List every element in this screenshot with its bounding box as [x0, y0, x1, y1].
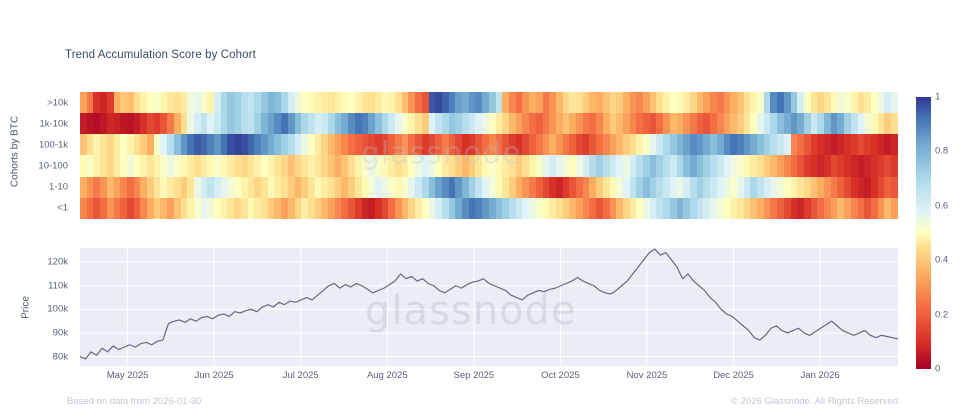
heatmap-cell	[469, 177, 476, 198]
heatmap-cell	[824, 155, 831, 176]
heatmap-cell	[395, 92, 402, 113]
heatmap-cell	[308, 198, 315, 219]
heatmap-cell	[663, 155, 670, 176]
heatmap-cell	[134, 92, 141, 113]
price-line-svg	[80, 248, 898, 366]
heatmap-cell	[650, 92, 657, 113]
heatmap-cell	[375, 134, 382, 155]
heatmap-cell	[160, 113, 167, 134]
heatmap-cell	[375, 177, 382, 198]
heatmap-cell	[563, 155, 570, 176]
heatmap-cell	[656, 92, 663, 113]
heatmap-cell	[415, 155, 422, 176]
heatmap-cell	[388, 177, 395, 198]
heatmap-cell	[797, 155, 804, 176]
heatmap-cell	[415, 134, 422, 155]
heatmap-cell	[784, 177, 791, 198]
heatmap-cell	[93, 198, 100, 219]
heatmap-cell	[744, 177, 751, 198]
heatmap-cell	[261, 134, 268, 155]
heatmap-cell	[261, 155, 268, 176]
heatmap-cell	[529, 92, 536, 113]
heatmap-cell	[811, 177, 818, 198]
heatmap-cell	[442, 155, 449, 176]
heatmap-cell	[703, 198, 710, 219]
heatmap-cell	[811, 134, 818, 155]
heatmap-cell	[181, 134, 188, 155]
heatmap-cell	[140, 134, 147, 155]
heatmap-cell	[878, 177, 885, 198]
heatmap-cell	[891, 113, 898, 134]
heatmap-cell	[402, 134, 409, 155]
heatmap-cell	[154, 113, 161, 134]
heatmap-cell	[80, 134, 87, 155]
heatmap-cell	[737, 113, 744, 134]
heatmap-cell	[844, 155, 851, 176]
heatmap-cell	[703, 113, 710, 134]
heatmap-cell	[596, 155, 603, 176]
heatmap-cell	[824, 177, 831, 198]
heatmap-cell	[764, 92, 771, 113]
heatmap-cell	[543, 134, 550, 155]
heatmap-cell	[274, 155, 281, 176]
heatmap-cell	[335, 134, 342, 155]
heatmap-cell	[201, 92, 208, 113]
heatmap-cell	[442, 134, 449, 155]
heatmap-cell	[134, 113, 141, 134]
heatmap-cell	[80, 155, 87, 176]
heatmap-cell	[858, 92, 865, 113]
heatmap-cell	[449, 134, 456, 155]
heatmap-cell	[569, 177, 576, 198]
heatmap-cell	[174, 92, 181, 113]
heatmap-cell	[382, 134, 389, 155]
heatmap-cell	[174, 177, 181, 198]
heatmap-cell	[120, 134, 127, 155]
heatmap-cell	[616, 198, 623, 219]
heatmap-cell	[100, 134, 107, 155]
heatmap-cell	[817, 177, 824, 198]
heatmap-cell	[864, 155, 871, 176]
heatmap-cell	[576, 92, 583, 113]
heatmap-cell	[395, 198, 402, 219]
heatmap-cell	[496, 155, 503, 176]
heatmap-cell	[878, 134, 885, 155]
heatmap-cell	[884, 155, 891, 176]
heatmap-cell	[455, 113, 462, 134]
heatmap-cell	[462, 92, 469, 113]
heatmap-cell	[670, 155, 677, 176]
heatmap-cell	[248, 155, 255, 176]
heatmap-cell	[281, 113, 288, 134]
heatmap-cell	[295, 134, 302, 155]
heatmap-cell	[268, 134, 275, 155]
heatmap-cell	[207, 92, 214, 113]
heatmap-cell	[797, 198, 804, 219]
heatmap-cell	[797, 177, 804, 198]
heatmap-cell	[221, 134, 228, 155]
heatmap-cell	[610, 113, 617, 134]
heatmap-cell	[422, 155, 429, 176]
price-plot[interactable]	[80, 248, 898, 366]
heatmap-cell	[496, 198, 503, 219]
heatmap-cell	[791, 198, 798, 219]
heatmap-cell	[589, 198, 596, 219]
heatmap-cell	[603, 113, 610, 134]
heatmap-cell	[429, 92, 436, 113]
heatmap-cell	[127, 113, 134, 134]
heatmap-cell	[268, 92, 275, 113]
heatmap-cell	[147, 198, 154, 219]
heatmap-cell	[750, 113, 757, 134]
heatmap-plot[interactable]	[80, 92, 898, 219]
heatmap-cell	[677, 155, 684, 176]
heatmap-cell	[315, 198, 322, 219]
heatmap-cell	[650, 134, 657, 155]
heatmap-cell	[107, 134, 114, 155]
heatmap-cell	[656, 177, 663, 198]
heatmap-cell	[181, 113, 188, 134]
heatmap-cell	[569, 198, 576, 219]
heatmap-cell	[549, 177, 556, 198]
heatmap-cell	[596, 134, 603, 155]
heatmap-cell	[522, 177, 529, 198]
heatmap-cell	[435, 134, 442, 155]
heatmap-cell	[804, 155, 811, 176]
heatmap-cell	[355, 113, 362, 134]
heatmap-cell	[429, 113, 436, 134]
heatmap-cell	[127, 155, 134, 176]
heatmap-cell	[656, 155, 663, 176]
heatmap-cell	[422, 113, 429, 134]
heatmap-cell	[288, 92, 295, 113]
heatmap-cell	[563, 134, 570, 155]
heatmap-cell	[509, 155, 516, 176]
heatmap-cell	[482, 198, 489, 219]
heatmap-cell	[730, 92, 737, 113]
heatmap-cell	[851, 113, 858, 134]
heatmap-cell	[308, 113, 315, 134]
heatmap-cell	[274, 198, 281, 219]
heatmap-cell	[536, 134, 543, 155]
heatmap-cell	[804, 92, 811, 113]
heatmap-cell	[543, 113, 550, 134]
heatmap-cell	[884, 198, 891, 219]
heatmap-cell	[509, 177, 516, 198]
price-y-tick: 100k	[47, 304, 68, 315]
heatmap-cell	[791, 92, 798, 113]
heatmap-cell	[764, 177, 771, 198]
heatmap-cell	[301, 198, 308, 219]
heatmap-cell	[254, 198, 261, 219]
heatmap-cell	[167, 92, 174, 113]
heatmap-cell	[181, 177, 188, 198]
heatmap-cell	[891, 134, 898, 155]
heatmap-cell	[864, 177, 871, 198]
heatmap-cell	[449, 113, 456, 134]
heatmap-cell	[87, 177, 94, 198]
heatmap-cell	[214, 198, 221, 219]
heatmap-cell	[435, 92, 442, 113]
heatmap-cell	[804, 134, 811, 155]
heatmap-cell	[717, 113, 724, 134]
heatmap-cell	[348, 92, 355, 113]
heatmap-cell	[227, 177, 234, 198]
heatmap-cell	[308, 177, 315, 198]
heatmap-cell	[362, 92, 369, 113]
heatmap-cell	[670, 113, 677, 134]
heatmap-cell	[509, 113, 516, 134]
heatmap-cell	[831, 134, 838, 155]
heatmap-cell	[509, 92, 516, 113]
heatmap-cell	[187, 198, 194, 219]
heatmap-cell	[777, 198, 784, 219]
heatmap-cell	[837, 113, 844, 134]
heatmap-cell	[837, 198, 844, 219]
heatmap-cell	[469, 134, 476, 155]
heatmap-cell	[543, 177, 550, 198]
heatmap-cell	[274, 134, 281, 155]
heatmap-cell	[234, 92, 241, 113]
heatmap-cell	[556, 113, 563, 134]
heatmap-cell	[315, 155, 322, 176]
heatmap-cell	[435, 198, 442, 219]
heatmap-cell	[884, 177, 891, 198]
heatmap-cell	[214, 155, 221, 176]
heatmap-cell	[817, 92, 824, 113]
heatmap-cell	[536, 198, 543, 219]
heatmap-cell	[355, 134, 362, 155]
heatmap-cell	[871, 134, 878, 155]
heatmap-cell	[663, 113, 670, 134]
heatmap-cell	[408, 134, 415, 155]
heatmap-cell	[603, 92, 610, 113]
heatmap-cell	[375, 92, 382, 113]
heatmap-cell	[221, 177, 228, 198]
heatmap-cell	[482, 113, 489, 134]
heatmap-cell	[455, 198, 462, 219]
heatmap-cell	[502, 198, 509, 219]
heatmap-cell	[362, 198, 369, 219]
heatmap-cell	[784, 198, 791, 219]
heatmap-cell	[891, 198, 898, 219]
heatmap-cell	[683, 198, 690, 219]
heatmap-cell	[87, 134, 94, 155]
heatmap-cell	[837, 155, 844, 176]
heatmap-cell	[207, 198, 214, 219]
heatmap-cell	[127, 92, 134, 113]
heatmap-cell	[817, 155, 824, 176]
heatmap-cell	[301, 177, 308, 198]
heatmap-cell	[851, 198, 858, 219]
heatmap-cell	[348, 134, 355, 155]
heatmap-cell	[335, 177, 342, 198]
heatmap-cell	[362, 155, 369, 176]
heatmap-cell	[757, 198, 764, 219]
heatmap-cell	[583, 134, 590, 155]
heatmap-cell	[871, 198, 878, 219]
heatmap-cell	[683, 155, 690, 176]
heatmap-y-tick: 10-100	[38, 161, 68, 172]
heatmap-cell	[529, 198, 536, 219]
heatmap-cell	[160, 177, 167, 198]
heatmap-cell	[368, 92, 375, 113]
heatmap-cell	[777, 113, 784, 134]
heatmap-cell	[335, 155, 342, 176]
heatmap-cell	[87, 198, 94, 219]
heatmap-cell	[878, 113, 885, 134]
copyright-note: © 2026 Glassnode. All Rights Reserved	[731, 396, 898, 407]
heatmap-cell	[884, 134, 891, 155]
heatmap-cell	[154, 134, 161, 155]
heatmap-cell	[321, 92, 328, 113]
heatmap-cell	[429, 198, 436, 219]
heatmap-cell	[341, 155, 348, 176]
heatmap-cell	[610, 155, 617, 176]
heatmap-cell	[489, 177, 496, 198]
heatmap-cell	[724, 92, 731, 113]
heatmap-cell	[636, 177, 643, 198]
heatmap-cell	[321, 113, 328, 134]
heatmap-cell	[368, 177, 375, 198]
heatmap-cell	[489, 113, 496, 134]
heatmap-cell	[415, 198, 422, 219]
heatmap-cell	[368, 134, 375, 155]
heatmap-cell	[730, 113, 737, 134]
heatmap-cell	[93, 113, 100, 134]
heatmap-row	[80, 92, 898, 113]
heatmap-cell	[630, 113, 637, 134]
heatmap-cell	[536, 155, 543, 176]
heatmap-cell	[261, 177, 268, 198]
heatmap-cell	[462, 113, 469, 134]
heatmap-cell	[442, 198, 449, 219]
heatmap-cell	[388, 113, 395, 134]
heatmap-cell	[395, 177, 402, 198]
heatmap-cell	[858, 155, 865, 176]
heatmap-cell	[630, 134, 637, 155]
heatmap-cell	[864, 113, 871, 134]
heatmap-cell	[777, 92, 784, 113]
heatmap-cell	[529, 134, 536, 155]
heatmap-cell	[335, 198, 342, 219]
heatmap-cell	[187, 155, 194, 176]
heatmap-cell	[844, 113, 851, 134]
heatmap-cell	[227, 134, 234, 155]
colorbar-tick: 0.6	[935, 200, 948, 211]
heatmap-cell	[301, 134, 308, 155]
heatmap-cell	[295, 155, 302, 176]
heatmap-cell	[214, 92, 221, 113]
heatmap-cell	[362, 134, 369, 155]
heatmap-cell	[181, 155, 188, 176]
heatmap-cell	[643, 113, 650, 134]
heatmap-cell	[871, 177, 878, 198]
heatmap-cell	[268, 177, 275, 198]
heatmap-cell	[496, 92, 503, 113]
heatmap-cell	[328, 92, 335, 113]
colorbar-tick: 0.4	[935, 255, 948, 266]
heatmap-cell	[422, 92, 429, 113]
heatmap-cell	[241, 113, 248, 134]
heatmap-cell	[496, 113, 503, 134]
heatmap-cell	[864, 134, 871, 155]
heatmap-cell	[509, 198, 516, 219]
heatmap-cell	[549, 155, 556, 176]
heatmap-cell	[281, 177, 288, 198]
heatmap-cell	[569, 134, 576, 155]
heatmap-cell	[482, 134, 489, 155]
heatmap-cell	[248, 92, 255, 113]
heatmap-cell	[871, 155, 878, 176]
heatmap-cell	[207, 134, 214, 155]
heatmap-cell	[717, 198, 724, 219]
heatmap-cell	[127, 198, 134, 219]
heatmap-cell	[295, 198, 302, 219]
heatmap-cell	[248, 177, 255, 198]
heatmap-cell	[529, 177, 536, 198]
heatmap-cell	[677, 134, 684, 155]
heatmap-cell	[241, 155, 248, 176]
heatmap-cell	[107, 198, 114, 219]
heatmap-cell	[194, 155, 201, 176]
heatmap-cell	[750, 155, 757, 176]
heatmap-cell	[288, 198, 295, 219]
heatmap-cell	[435, 155, 442, 176]
heatmap-cell	[891, 155, 898, 176]
heatmap-cell	[643, 134, 650, 155]
heatmap-cell	[395, 113, 402, 134]
heatmap-cell	[677, 177, 684, 198]
heatmap-cell	[80, 198, 87, 219]
heatmap-cell	[134, 134, 141, 155]
heatmap-cell	[167, 113, 174, 134]
heatmap-cell	[616, 134, 623, 155]
heatmap-cell	[864, 92, 871, 113]
heatmap-cell	[630, 198, 637, 219]
heatmap-cell	[288, 113, 295, 134]
heatmap-cell	[750, 177, 757, 198]
heatmap-cell	[147, 134, 154, 155]
price-y-tick: 120k	[47, 257, 68, 268]
heatmap-cell	[194, 134, 201, 155]
heatmap-cell	[663, 134, 670, 155]
heatmap-cell	[160, 92, 167, 113]
heatmap-cell	[375, 113, 382, 134]
heatmap-cell	[301, 92, 308, 113]
page-title: Trend Accumulation Score by Cohort	[65, 49, 256, 61]
colorbar-tick: 0.8	[935, 146, 948, 157]
heatmap-cell	[422, 134, 429, 155]
heatmap-cell	[93, 134, 100, 155]
heatmap-cell	[114, 177, 121, 198]
heatmap-cell	[502, 177, 509, 198]
heatmap-cell	[241, 134, 248, 155]
heatmap-cell	[174, 134, 181, 155]
heatmap-cell	[341, 134, 348, 155]
heatmap-cell	[248, 134, 255, 155]
heatmap-cell	[207, 113, 214, 134]
heatmap-cell	[408, 177, 415, 198]
heatmap-cell	[791, 113, 798, 134]
heatmap-cell	[844, 198, 851, 219]
heatmap-cell	[737, 134, 744, 155]
heatmap-cell	[583, 92, 590, 113]
price-y-tick: 110k	[48, 280, 68, 291]
heatmap-cell	[724, 113, 731, 134]
heatmap-cell	[690, 177, 697, 198]
heatmap-cell	[214, 113, 221, 134]
